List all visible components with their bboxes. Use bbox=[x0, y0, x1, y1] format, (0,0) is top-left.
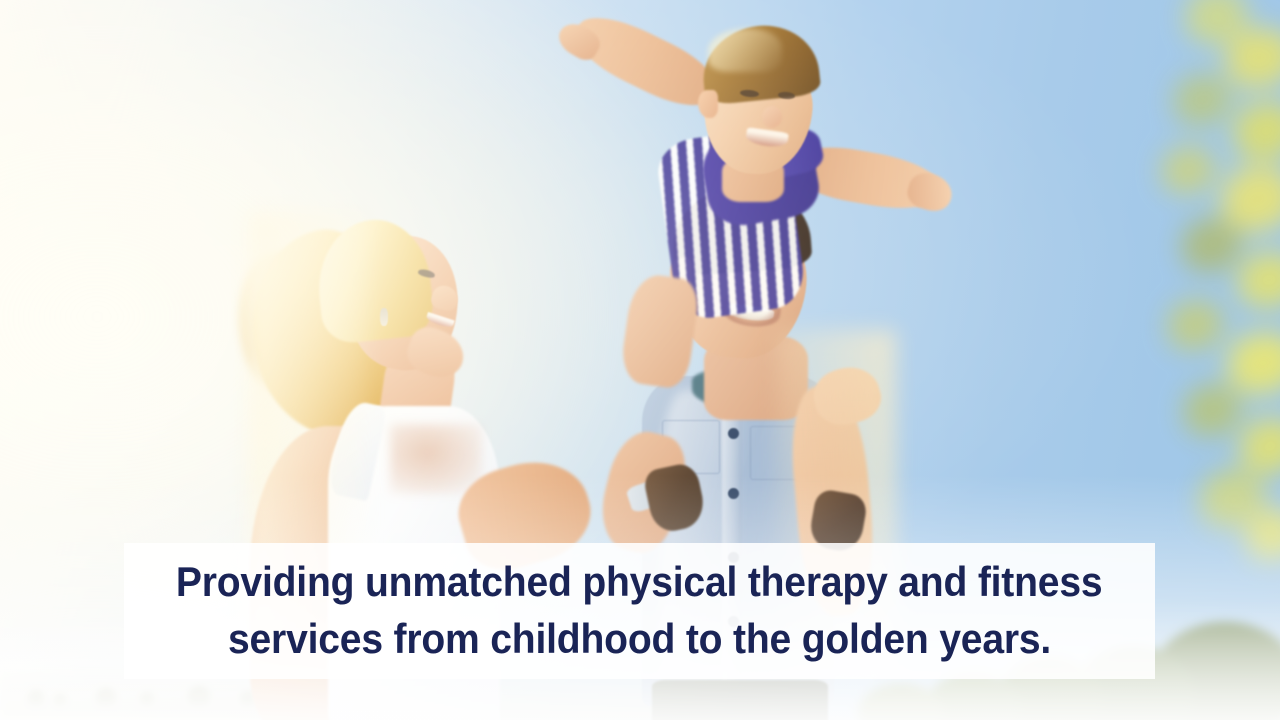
boy-figure bbox=[556, 26, 976, 356]
hero-banner: Providing unmatched physical therapy and… bbox=[0, 0, 1280, 720]
caption-line-2: services from childhood to the golden ye… bbox=[228, 611, 1051, 668]
caption-line-1: Providing unmatched physical therapy and… bbox=[176, 554, 1103, 611]
caption-banner: Providing unmatched physical therapy and… bbox=[124, 543, 1155, 679]
